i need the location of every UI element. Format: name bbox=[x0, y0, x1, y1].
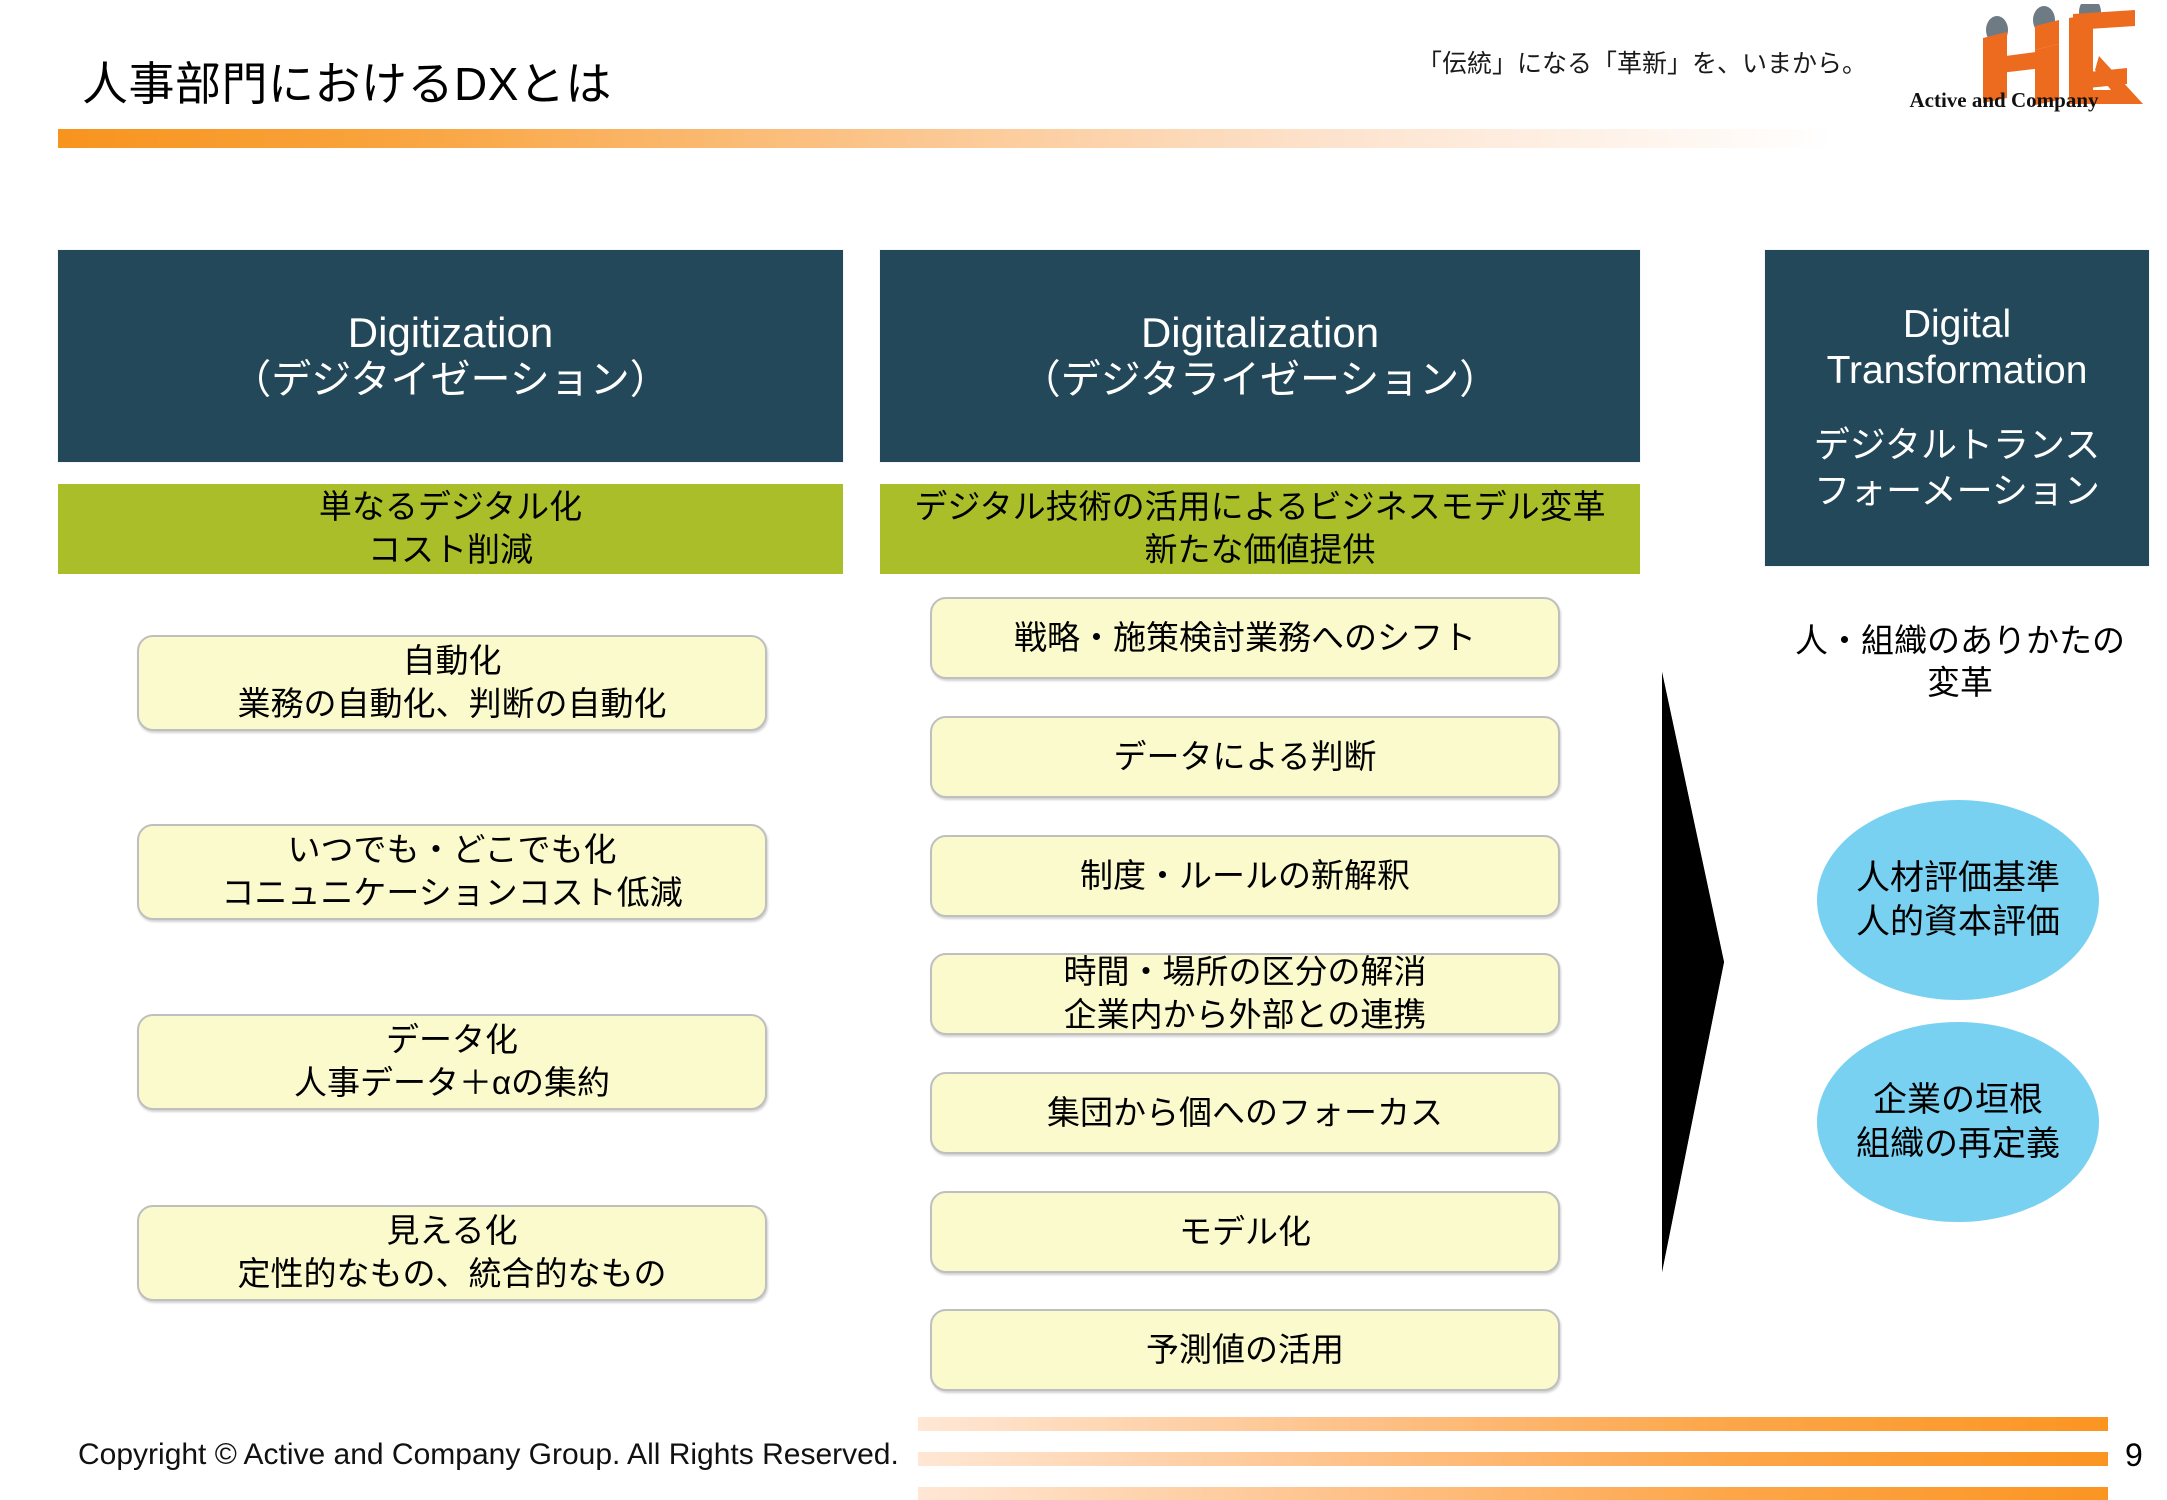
card-line1: いつでも・どこでも化 bbox=[287, 829, 616, 872]
digitalization-title-jp: （デジタライゼーション） bbox=[1021, 357, 1499, 404]
card-line2: 人事データ＋αの集約 bbox=[294, 1062, 610, 1105]
digitization-card: 自動化 業務の自動化、判断の自動化 bbox=[137, 635, 767, 731]
card-line1: 制度・ルールの新解釈 bbox=[1080, 855, 1410, 898]
digitalization-subtitle-line1: デジタル技術の活用によるビジネスモデル変革 bbox=[914, 486, 1605, 529]
card-line2: 企業内から外部との連携 bbox=[1064, 994, 1427, 1037]
dx-title-en-line1: Digital bbox=[1903, 302, 2011, 348]
column-header-digitization: Digitization （デジタイゼーション） bbox=[58, 250, 843, 462]
column-header-digital-transformation: Digital Transformation デジタルトランス フォーメーション bbox=[1765, 250, 2149, 566]
digitization-subtitle-bar: 単なるデジタル化 コスト削減 bbox=[58, 484, 843, 574]
digitization-subtitle-line2: コスト削減 bbox=[368, 529, 533, 572]
bubble-line1: 企業の垣根 bbox=[1873, 1078, 2043, 1122]
digitalization-card: 予測値の活用 bbox=[930, 1309, 1560, 1391]
digitization-card: いつでも・どこでも化 コニュニケーションコスト低減 bbox=[137, 824, 767, 920]
card-line1: 見える化 bbox=[386, 1210, 517, 1253]
page-number: 9 bbox=[2125, 1437, 2143, 1474]
card-line2: 定性的なもの、統合的なもの bbox=[238, 1253, 667, 1296]
footer-stripe bbox=[918, 1487, 2108, 1500]
digitalization-card: 戦略・施策検討業務へのシフト bbox=[930, 597, 1560, 679]
card-line1: 集団から個へのフォーカス bbox=[1047, 1092, 1443, 1135]
digitization-card: 見える化 定性的なもの、統合的なもの bbox=[137, 1205, 767, 1301]
digitization-title-en: Digitization bbox=[348, 308, 553, 358]
card-line1: 戦略・施策検討業務へのシフト bbox=[1014, 617, 1476, 660]
card-line1: 時間・場所の区分の解消 bbox=[1064, 951, 1427, 994]
footer-stripe bbox=[918, 1452, 2108, 1466]
card-line1: データによる判断 bbox=[1113, 736, 1376, 779]
bubble-line2: 組織の再定義 bbox=[1856, 1122, 2060, 1166]
card-line2: コニュニケーションコスト低減 bbox=[221, 872, 682, 915]
digitalization-card: 時間・場所の区分の解消 企業内から外部との連携 bbox=[930, 953, 1560, 1035]
digitalization-subtitle-bar: デジタル技術の活用によるビジネスモデル変革 新たな価値提供 bbox=[880, 484, 1640, 574]
transformation-bubble: 人材評価基準 人的資本評価 bbox=[1817, 800, 2099, 1000]
digitization-title-jp: （デジタイゼーション） bbox=[231, 357, 669, 404]
transformation-caption-line1: 人・組織のありかたの bbox=[1780, 620, 2140, 662]
copyright-text: Copyright © Active and Company Group. Al… bbox=[78, 1438, 899, 1472]
digitalization-card: 制度・ルールの新解釈 bbox=[930, 835, 1560, 917]
transformation-caption: 人・組織のありかたの 変革 bbox=[1780, 620, 2140, 704]
dx-title-jp-line1: デジタルトランス bbox=[1814, 422, 2101, 468]
dx-title-jp-line2: フォーメーション bbox=[1814, 468, 2100, 514]
card-line1: データ化 bbox=[386, 1019, 518, 1062]
slide-canvas: 人事部門におけるDXとは 「伝統」になる「革新」を、いまから。 Active a… bbox=[0, 0, 2167, 1500]
card-line2: 業務の自動化、判断の自動化 bbox=[238, 683, 667, 726]
digitalization-card: データによる判断 bbox=[930, 716, 1560, 798]
digitization-subtitle-line1: 単なるデジタル化 bbox=[319, 486, 582, 529]
digitalization-card: モデル化 bbox=[930, 1191, 1560, 1273]
card-line1: モデル化 bbox=[1179, 1211, 1311, 1254]
card-line1: 自動化 bbox=[403, 640, 502, 683]
logo-caption: Active and Company bbox=[1859, 88, 2149, 113]
company-tagline: 「伝統」になる「革新」を、いまから。 bbox=[1417, 44, 1867, 80]
title-divider-bar bbox=[58, 129, 1833, 148]
digitalization-card: 集団から個へのフォーカス bbox=[930, 1072, 1560, 1154]
page-title: 人事部門におけるDXとは bbox=[82, 48, 612, 114]
dx-title-en-line2: Transformation bbox=[1827, 348, 2088, 394]
digitization-card: データ化 人事データ＋αの集約 bbox=[137, 1014, 767, 1110]
transformation-caption-line2: 変革 bbox=[1780, 662, 2140, 704]
bubble-line1: 人材評価基準 bbox=[1856, 856, 2060, 900]
transformation-bubble: 企業の垣根 組織の再定義 bbox=[1817, 1022, 2099, 1222]
column-header-digitalization: Digitalization （デジタライゼーション） bbox=[880, 250, 1640, 462]
bubble-line2: 人的資本評価 bbox=[1856, 900, 2060, 944]
digitalization-title-en: Digitalization bbox=[1141, 308, 1379, 358]
footer-stripe bbox=[918, 1417, 2108, 1431]
right-arrow-icon bbox=[1648, 672, 1738, 1272]
card-line1: 予測値の活用 bbox=[1146, 1329, 1344, 1372]
digitalization-subtitle-line2: 新たな価値提供 bbox=[1145, 529, 1376, 572]
